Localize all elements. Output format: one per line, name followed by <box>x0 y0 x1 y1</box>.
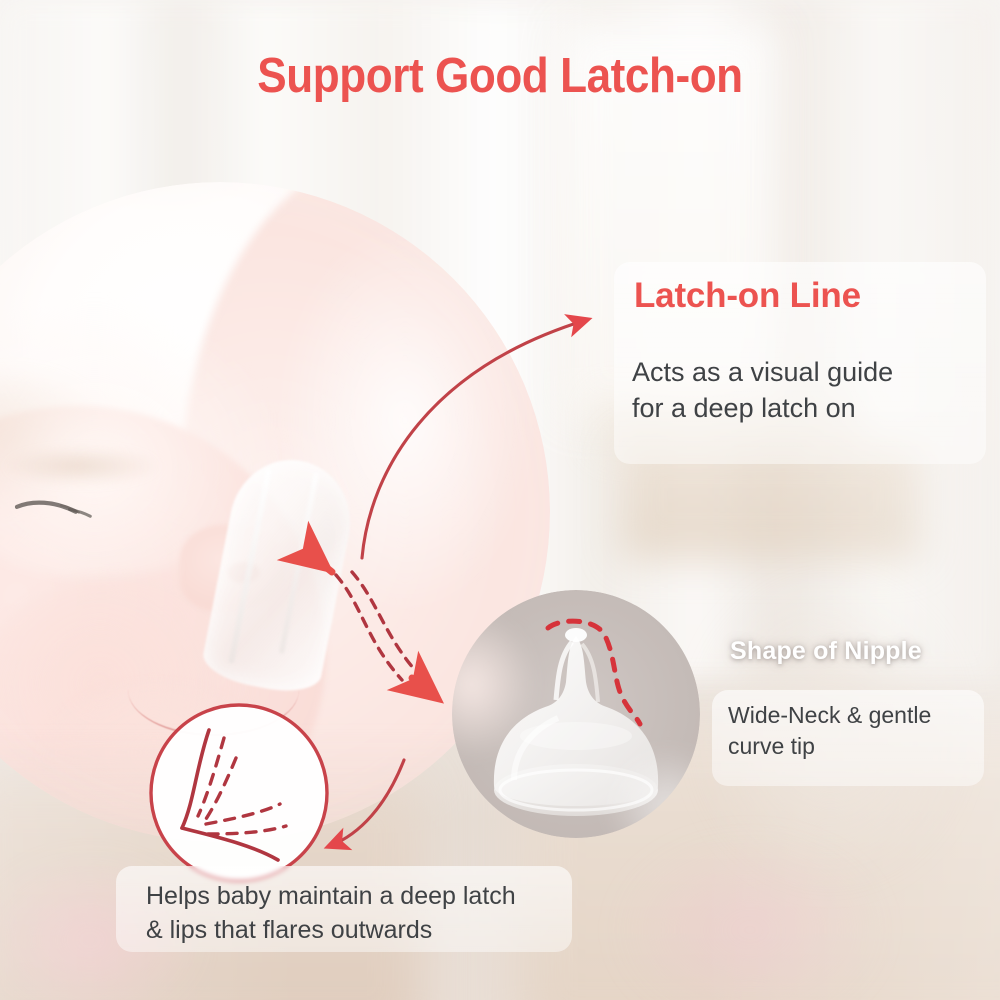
shape-of-nipple-body-line1: Wide-Neck & gentle <box>728 700 986 731</box>
page-title: Support Good Latch-on <box>50 48 950 104</box>
lip-flare-caption: Helps baby maintain a deep latch & lips … <box>146 879 566 947</box>
shape-of-nipple-body-line2: curve tip <box>728 731 986 762</box>
infographic-stage: Support Good Latch-on Latch-on Line Acts… <box>0 0 1000 1000</box>
baby-brow <box>2 446 160 486</box>
latch-on-line-body-line2: for a deep latch on <box>632 391 962 427</box>
latch-on-line-body-line1: Acts as a visual guide <box>632 355 962 391</box>
lip-flare-inset <box>146 700 332 886</box>
inset-glow-right <box>606 749 700 838</box>
shape-of-nipple-body: Wide-Neck & gentle curve tip <box>728 700 986 762</box>
lip-flare-caption-line2: & lips that flares outwards <box>146 913 566 947</box>
shape-of-nipple-heading: Shape of Nipple <box>730 637 922 666</box>
inset-glow-left <box>452 610 536 759</box>
lip-flare-caption-line1: Helps baby maintain a deep latch <box>146 879 566 913</box>
latch-on-line-body: Acts as a visual guide for a deep latch … <box>632 355 962 427</box>
latch-on-line-heading: Latch-on Line <box>634 276 861 316</box>
nipple-closeup-inset <box>452 590 700 838</box>
